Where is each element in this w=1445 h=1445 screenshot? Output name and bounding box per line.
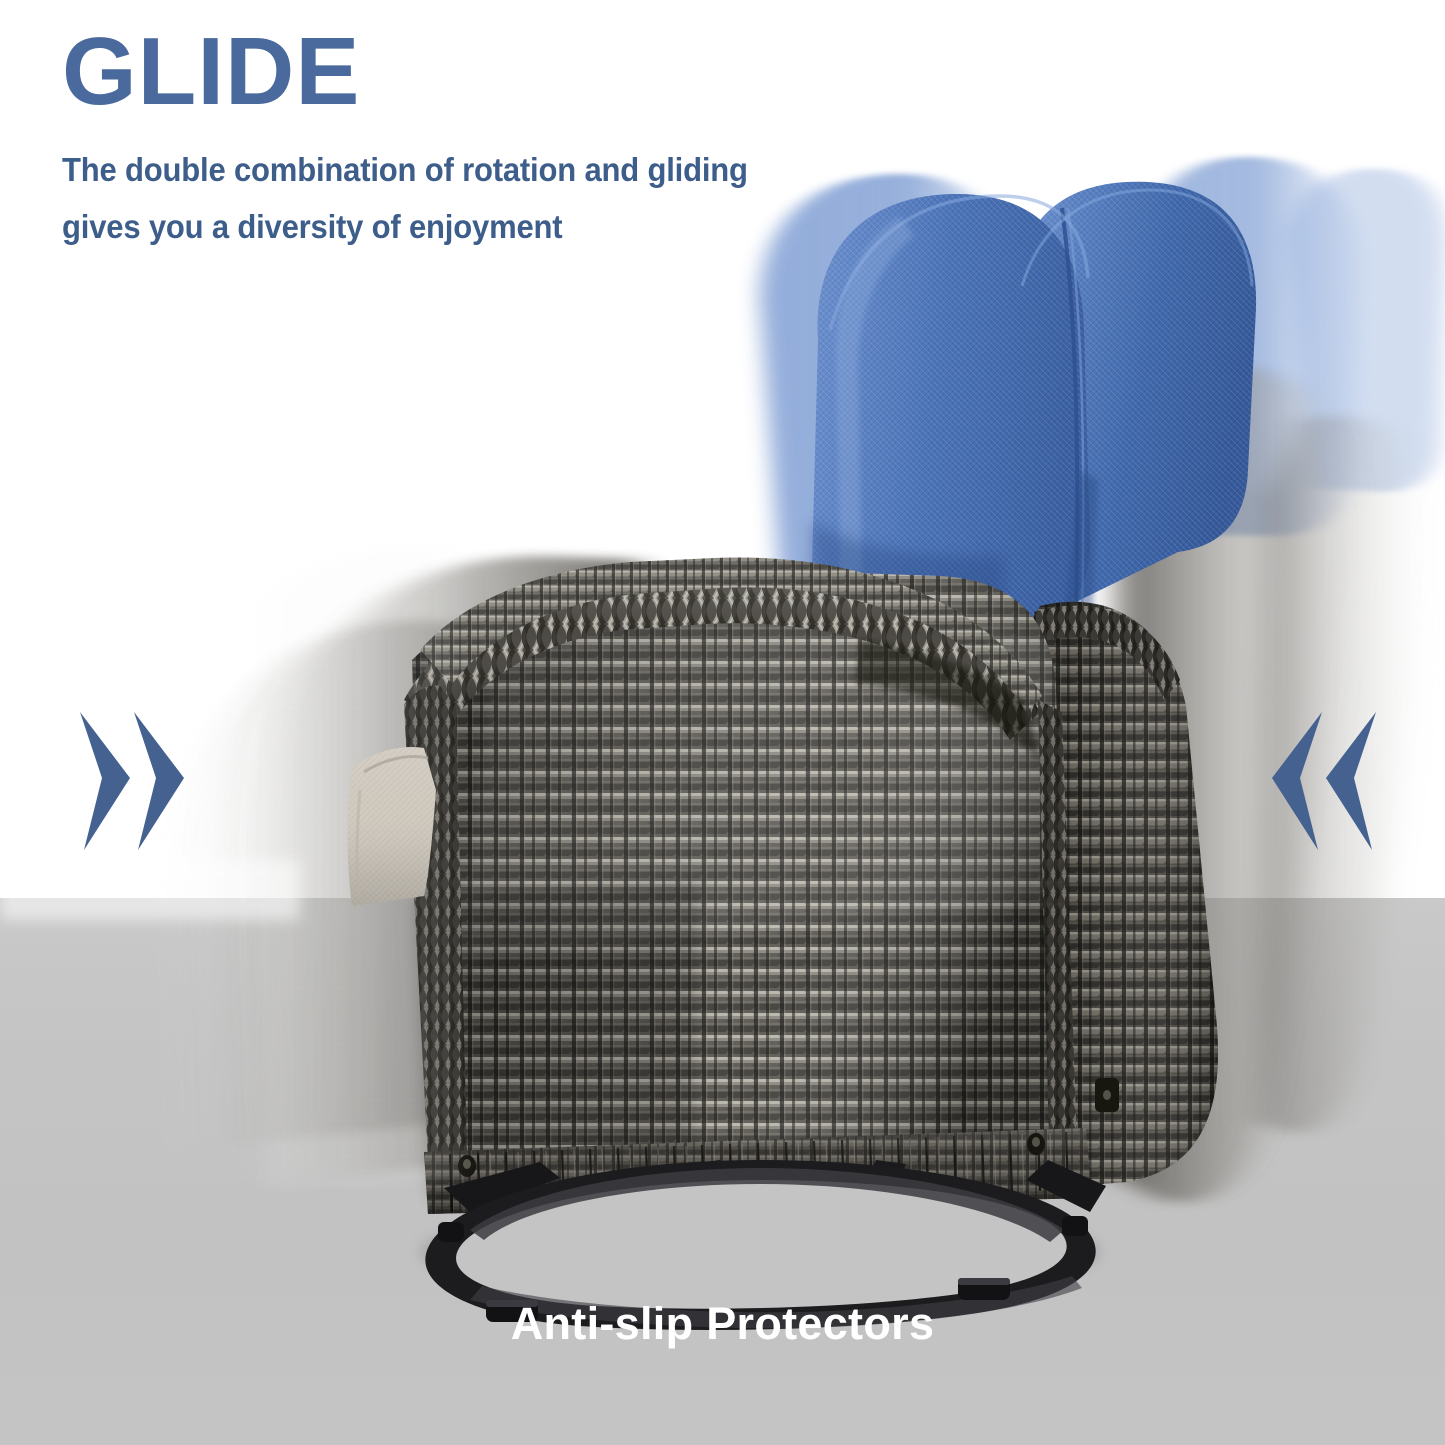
chair-arm-side-panel [404,557,1078,1200]
subtitle-line-1: The double combination of rotation and g… [62,142,908,199]
feature-caption: Anti-slip Protectors [0,1298,1445,1350]
double-chevron-right-icon [72,706,194,856]
back-bolt [1118,424,1146,464]
product-feature-image: GLIDE The double combination of rotation… [0,0,1445,1445]
headline-block: GLIDE The double combination of rotation… [62,24,962,256]
page-subtitle: The double combination of rotation and g… [62,142,908,256]
anti-slip-protector-foot [1062,1216,1088,1236]
page-title: GLIDE [62,24,962,120]
anti-slip-protector-foot [958,1278,1010,1300]
double-chevron-left-icon [1262,706,1384,856]
subtitle-line-2: gives you a diversity of enjoyment [62,199,908,256]
anti-slip-protector-foot [438,1222,464,1242]
